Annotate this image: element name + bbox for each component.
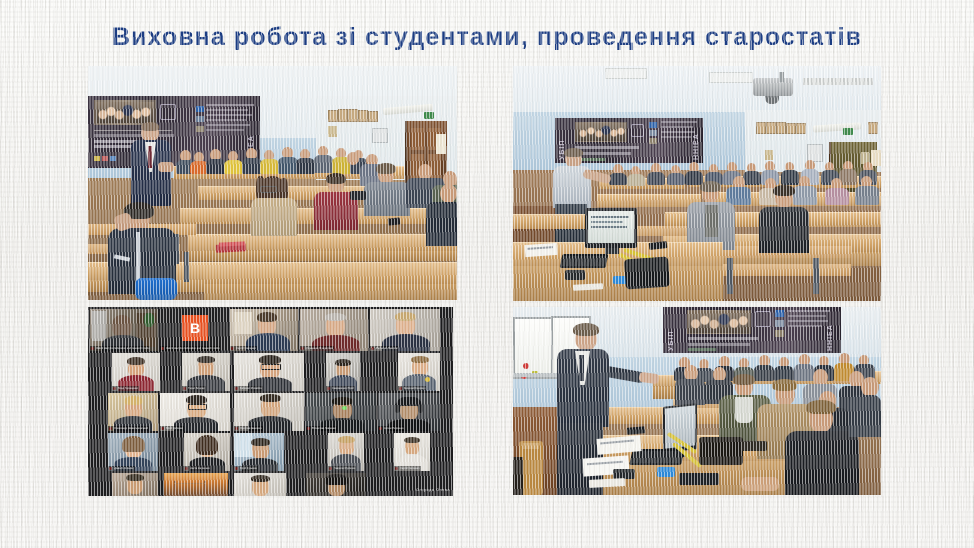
photo-lecture-hall-wide-view: УБІП ННІЕА — [513, 66, 881, 301]
photo-1-scene: ННІЕА — [88, 66, 457, 300]
participant-name: Радченко Максим — [370, 346, 398, 351]
zoom-participant-tile: Савраменко Юрій — [326, 353, 360, 391]
banner-institute-label: ННІЕА — [693, 120, 700, 160]
participant-name: Кузьменко Владислав — [300, 346, 334, 351]
zoom-participant-tile: Юрій Цибенко — [160, 393, 230, 431]
banner-institute-label: ННІЕА — [827, 309, 834, 351]
zoom-participant-tile — [112, 473, 158, 496]
banner-university-label: УБІП — [668, 309, 675, 351]
participant-name: Діана Сліпченко — [108, 466, 135, 471]
photo-4-scene: УБІП ННІЕА — [513, 307, 881, 495]
participant-avatar-initial: В — [182, 315, 208, 341]
participant-name: Влад Гаращенко — [112, 386, 139, 391]
zoom-participant-tile: Гаврило Мусієнко — [328, 433, 364, 471]
participant-name: Миколай Ігорович — [398, 386, 426, 391]
zoom-participant-tile: Діана Сліпченко — [108, 433, 158, 471]
zoom-participant-tile: Артем Петренко — [378, 393, 440, 431]
participant-name: Valerii Havrylov Education and research … — [90, 346, 150, 351]
slide-canvas: Виховна робота зі студентами, проведення… — [0, 0, 974, 548]
photo-zoom-video-conference-grid: Valerii Havrylov Education and research … — [88, 307, 453, 496]
participant-name: Гаврило Мусієнко — [328, 466, 356, 471]
zoom-participant-tile — [234, 473, 286, 496]
photo-lecture-hall-speaker-navy-suit: ННІЕА — [88, 66, 457, 300]
page-title: Виховна робота зі студентами, проведення… — [0, 21, 974, 53]
zoom-participant-tile: В'ячеслав Левченко — [306, 393, 376, 431]
zoom-participant-tile: Влад Гаращенко — [112, 353, 160, 391]
photo-classroom-speaker-pointing: УБІП ННІЕА — [513, 307, 881, 495]
zoom-participant-tile: Олександр Шевельчинський — [108, 393, 158, 431]
zoom-participant-tile: В Valerii Havrylov Education and researc… — [160, 309, 228, 351]
participant-name: Юрій Кузьмин — [234, 466, 258, 471]
participant-name: Сергій Кваченко — [394, 466, 421, 471]
zoom-participant-tile: Настя Науменко — [184, 433, 230, 471]
photo-watermark: Огорода Олена — [416, 487, 450, 492]
participant-name: Valerii Havrylov Education and research … — [160, 346, 220, 351]
participant-name: Юрій Цибенко — [160, 426, 184, 431]
zoom-participant-tile: Кузьменко Владислав — [300, 309, 368, 351]
participant-name: Сергій Савченко — [230, 346, 257, 351]
photo-2-scene: УБІП ННІЕА — [513, 66, 881, 301]
zoom-participant-tile-active: Сергій Савченко — [230, 309, 298, 351]
zoom-participant-tile: Тарас Бондар — [182, 353, 230, 391]
zoom-participant-tile: Радченко Максим — [370, 309, 440, 351]
participant-name: Олександр Шевельчинський — [108, 426, 149, 431]
participant-name: В'ячеслав Левченко — [306, 426, 337, 431]
participant-name: Ярослав Іванович — [234, 426, 263, 431]
participant-name: Настя Науменко — [184, 466, 211, 471]
zoom-grid: Valerii Havrylov Education and research … — [88, 307, 453, 496]
zoom-participant-tile: Бабенко Михайло — [234, 353, 304, 391]
participant-name: Тарас Бондар — [182, 386, 206, 391]
zoom-participant-tile — [164, 473, 228, 496]
participant-name: Бабенко Михайло — [234, 386, 263, 391]
zoom-participant-tile — [306, 473, 366, 496]
zoom-participant-tile: Сергій Кваченко — [394, 433, 430, 471]
zoom-participant-tile: Valerii Havrylov Education and research … — [90, 309, 158, 351]
participant-name: Савраменко Юрій — [326, 386, 355, 391]
zoom-participant-tile: Ярослав Іванович — [234, 393, 304, 431]
zoom-participant-tile: Юрій Кузьмин — [234, 433, 284, 471]
zoom-participant-tile: Миколай Ігорович — [398, 353, 440, 391]
participant-name: Артем Петренко — [378, 426, 405, 431]
